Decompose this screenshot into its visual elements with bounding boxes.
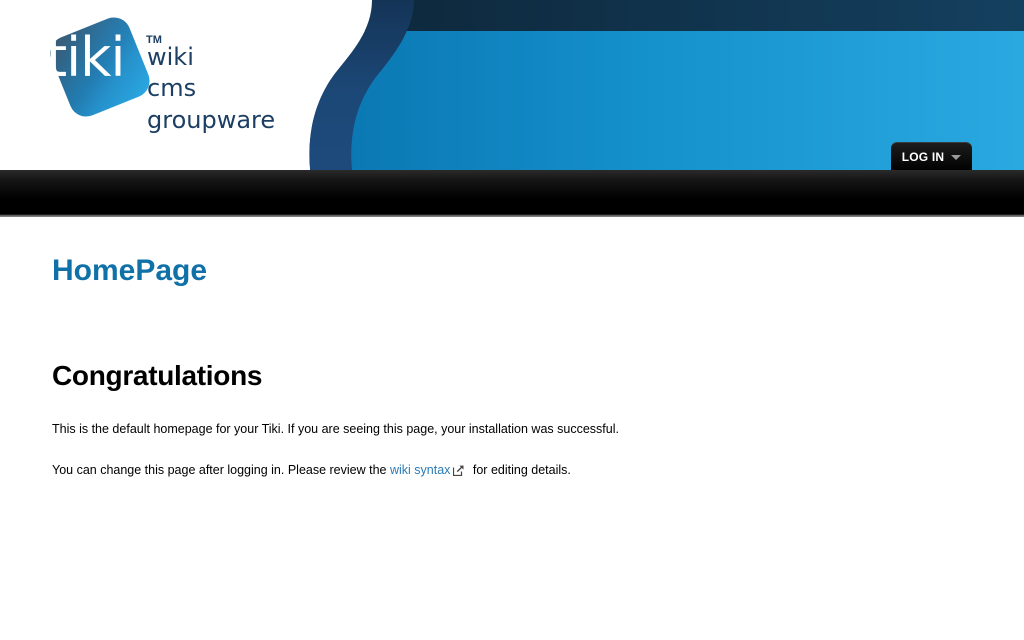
svg-text:tiki: tiki [46,26,124,89]
page-title: HomePage [52,256,207,286]
chevron-down-icon [951,155,961,160]
svg-text:cms: cms [147,74,196,102]
navbar-item-list [0,170,1024,214]
main-navbar[interactable] [0,170,1024,217]
intro-paragraph: This is the default homepage for your Ti… [52,421,952,438]
congratulations-heading: Congratulations [52,362,952,390]
wiki-syntax-link[interactable]: wiki syntax [390,463,450,477]
instructions-text-before: You can change this page after logging i… [52,463,390,477]
login-button-label: LOG IN [902,151,945,163]
tiki-logo-icon: tiki TM wiki cms groupware [44,8,304,158]
article-body: Congratulations This is the default home… [52,362,952,505]
site-header: tiki TM wiki cms groupware tiki wiki cms… [0,0,1024,170]
login-button[interactable]: LOG IN [891,142,972,170]
page-content: HomePage Congratulations This is the def… [0,217,1024,640]
external-link-icon [453,464,464,481]
site-logo[interactable]: tiki TM wiki cms groupware tiki wiki cms… [44,8,304,158]
instructions-paragraph: You can change this page after logging i… [52,462,952,481]
instructions-text-after: for editing details. [469,463,570,477]
svg-text:wiki: wiki [147,43,194,71]
svg-text:groupware: groupware [147,106,275,134]
